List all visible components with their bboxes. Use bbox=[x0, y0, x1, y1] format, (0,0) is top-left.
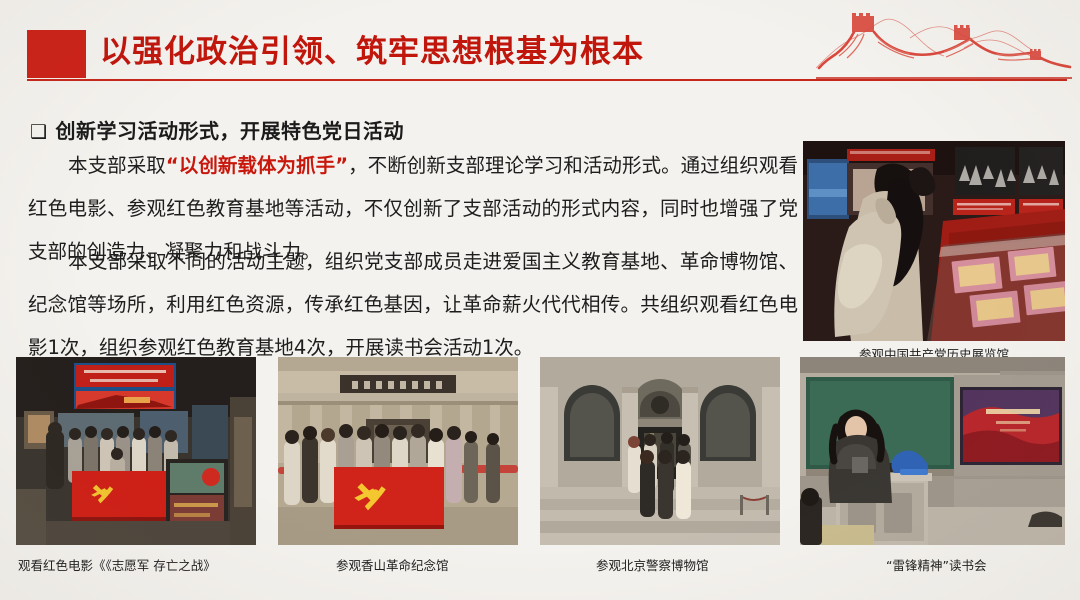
photo-caption-3: 参观北京警察博物馆 bbox=[596, 555, 709, 574]
paragraph-two-text: 本支部采取不同的活动主题，组织党支部成员走进爱国主义教育基地、革命博物馆、纪念馆… bbox=[28, 250, 798, 359]
slide-header: 以强化政治引领、筑牢思想根基为根本 bbox=[0, 0, 1080, 96]
paragraph-two: 本支部采取不同的活动主题，组织党支部成员走进爱国主义教育基地、革命博物馆、纪念馆… bbox=[28, 240, 798, 369]
section-heading: ❑创新学习活动形式，开展特色党日活动 bbox=[30, 115, 404, 144]
great-wall-icon bbox=[814, 8, 1074, 80]
section-heading-text: 创新学习活动形式，开展特色党日活动 bbox=[56, 119, 405, 143]
section-marker-icon: ❑ bbox=[30, 121, 48, 143]
lecture-book-club-photo bbox=[800, 357, 1065, 545]
paragraph-one-before: 本支部采取 bbox=[68, 154, 166, 177]
photo-caption-4: “雷锋精神”读书会 bbox=[886, 555, 986, 574]
red-film-screening-photo bbox=[16, 357, 256, 545]
museum-exhibition-photo bbox=[803, 141, 1065, 341]
xiangshan-memorial-photo bbox=[278, 357, 518, 545]
police-museum-photo bbox=[540, 357, 780, 545]
header-accent-block bbox=[27, 30, 86, 78]
photo-caption-1: 观看红色电影《《志愿军 存亡之战》 bbox=[18, 555, 216, 574]
page-title: 以强化政治引领、筑牢思想根基为根本 bbox=[100, 28, 644, 76]
slide-canvas: 以强化政治引领、筑牢思想根基为根本 bbox=[0, 0, 1080, 600]
photo-caption-2: 参观香山革命纪念馆 bbox=[336, 555, 449, 574]
paragraph-one-highlight: “以创新载体为抓手” bbox=[166, 154, 348, 177]
